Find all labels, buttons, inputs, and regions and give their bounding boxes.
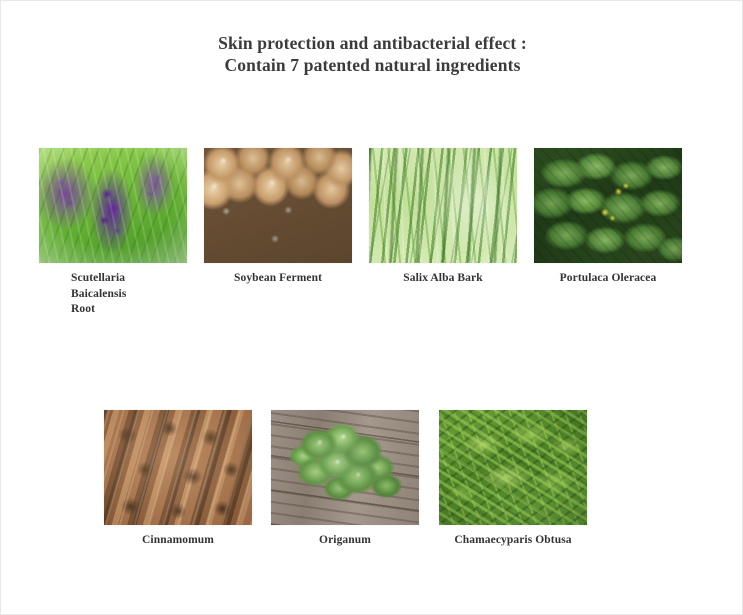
ingredient-card-origanum: Origanum bbox=[271, 410, 419, 525]
ingredient-label-portulaca-oleracea: Portulaca Oleracea bbox=[534, 271, 682, 287]
ingredient-card-portulaca-oleracea: Portulaca Oleracea bbox=[534, 148, 682, 263]
ingredient-label-chamaecyparis-obtusa: Chamaecyparis Obtusa bbox=[439, 533, 587, 549]
ingredient-card-chamaecyparis-obtusa: Chamaecyparis Obtusa bbox=[439, 410, 587, 525]
portulaca-oleracea-image bbox=[534, 148, 682, 263]
ingredient-label-scutellaria-baicalensis-root: Scutellaria Baicalensis Root bbox=[71, 271, 126, 318]
ingredient-label-cinnamomum: Cinnamomum bbox=[104, 533, 252, 549]
ingredient-label-soybean-ferment: Soybean Ferment bbox=[204, 271, 352, 287]
soybean-ferment-image bbox=[204, 148, 352, 263]
chamaecyparis-obtusa-image bbox=[439, 410, 587, 525]
ingredient-label-origanum: Origanum bbox=[271, 533, 419, 549]
cinnamomum-image bbox=[104, 410, 252, 525]
scutellaria-baicalensis-root-image bbox=[39, 148, 187, 263]
page-title-line-1: Skin protection and antibacterial effect… bbox=[1, 32, 743, 54]
salix-alba-bark-image bbox=[369, 148, 517, 263]
ingredient-infographic: Skin protection and antibacterial effect… bbox=[0, 0, 743, 615]
ingredient-card-cinnamomum: Cinnamomum bbox=[104, 410, 252, 525]
ingredient-card-salix-alba-bark: Salix Alba Bark bbox=[369, 148, 517, 263]
page-title-line-2: Contain 7 patented natural ingredients bbox=[1, 54, 743, 76]
page-title: Skin protection and antibacterial effect… bbox=[1, 32, 743, 76]
ingredient-card-soybean-ferment: Soybean Ferment bbox=[204, 148, 352, 263]
ingredient-card-scutellaria-baicalensis-root: Scutellaria Baicalensis Root bbox=[39, 148, 187, 263]
origanum-image bbox=[271, 410, 419, 525]
ingredient-label-salix-alba-bark: Salix Alba Bark bbox=[369, 271, 517, 287]
